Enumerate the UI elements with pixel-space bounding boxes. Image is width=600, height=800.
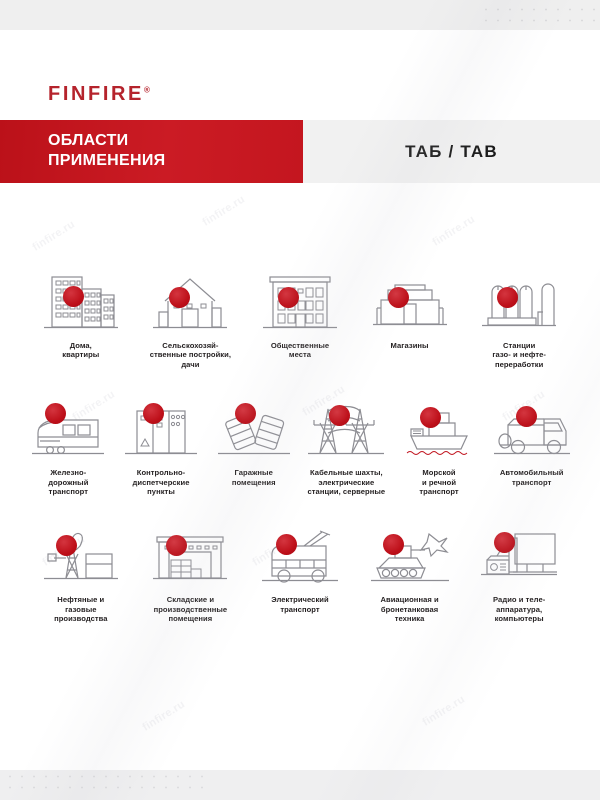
cell-label: Морской и речной транспорт bbox=[419, 468, 458, 496]
logo-text: FINFIRE bbox=[48, 83, 144, 105]
oil-rig-icon bbox=[26, 512, 136, 590]
grid-cell[interactable]: Кабельные шахты, электрические станции, … bbox=[300, 385, 393, 496]
cell-label: Контрольно- диспетчерские пункты bbox=[133, 468, 190, 496]
banner-tab-block: ТАБ / ТАВ bbox=[303, 120, 600, 183]
cell-label: Общественные места bbox=[271, 341, 329, 360]
grid-cell[interactable]: Дома, квартиры bbox=[26, 258, 136, 369]
grid-cell[interactable]: Электрический транспорт bbox=[245, 512, 355, 623]
fire-marker-dot bbox=[166, 535, 187, 556]
grid-cell[interactable]: Морской и речной транспорт bbox=[393, 385, 486, 496]
grid-row-3: Нефтяные и газовые производства bbox=[0, 512, 600, 623]
banner-title-block: ОБЛАСТИ ПРИМЕНЕНИЯ bbox=[0, 120, 303, 183]
grid-cell[interactable]: Общественные места bbox=[245, 258, 355, 369]
cell-label: Авиационная и бронетанковая техника bbox=[380, 595, 438, 623]
farm-house-icon bbox=[136, 258, 246, 336]
cell-label: Железно- дорожный транспорт bbox=[48, 468, 88, 496]
cell-label: Дома, квартиры bbox=[62, 341, 99, 360]
garage-doors-icon bbox=[207, 385, 300, 463]
cell-label: Нефтяные и газовые производства bbox=[54, 595, 107, 623]
warehouse-icon bbox=[136, 512, 246, 590]
grid-cell[interactable]: Автомобильный транспорт bbox=[485, 385, 578, 496]
radio-tv-icon bbox=[464, 512, 574, 590]
grid-cell[interactable]: Радио и теле- аппаратура, компьютеры bbox=[464, 512, 574, 623]
truck-icon bbox=[485, 385, 578, 463]
grid-cell[interactable]: Контрольно- диспетчерские пункты bbox=[115, 385, 208, 496]
registered-mark: ® bbox=[144, 85, 150, 94]
grid-row-2: Железно- дорожный транспорт bbox=[0, 385, 600, 496]
cell-label: Станции газо- и нефте- переработки bbox=[492, 341, 546, 369]
cell-label: Кабельные шахты, электрические станции, … bbox=[308, 468, 386, 496]
application-areas-grid: Дома, квартиры bbox=[0, 258, 600, 630]
train-icon bbox=[22, 385, 115, 463]
tank-plane-icon bbox=[355, 512, 465, 590]
public-building-icon bbox=[245, 258, 355, 336]
shop-store-icon bbox=[355, 258, 465, 336]
grid-cell[interactable]: Нефтяные и газовые производства bbox=[26, 512, 136, 623]
power-tower-icon bbox=[300, 385, 393, 463]
fire-marker-dot bbox=[388, 287, 409, 308]
cell-label: Автомобильный транспорт bbox=[500, 468, 564, 487]
bottom-left-dot-pattern bbox=[4, 771, 204, 797]
fire-marker-dot bbox=[420, 407, 441, 428]
grid-cell[interactable]: Складские и производственные помещения bbox=[136, 512, 246, 623]
cell-label: Складские и производственные помещения bbox=[154, 595, 228, 623]
page-root: finfire.ru finfire.ru finfire.ru finfire… bbox=[0, 0, 600, 800]
header-banner: ОБЛАСТИ ПРИМЕНЕНИЯ ТАБ / ТАВ bbox=[0, 120, 600, 183]
cell-label: Сельскохозяй- ственные постройки, дачи bbox=[150, 341, 231, 369]
apartment-buildings-icon bbox=[26, 258, 136, 336]
watermark: finfire.ru bbox=[200, 193, 247, 228]
fire-marker-dot bbox=[63, 286, 84, 307]
grid-row-1: Дома, квартиры bbox=[0, 258, 600, 369]
banner-title: ОБЛАСТИ ПРИМЕНЕНИЯ bbox=[48, 131, 165, 171]
grid-cell[interactable]: Железно- дорожный транспорт bbox=[22, 385, 115, 496]
finfire-logo: FINFIRE® bbox=[48, 84, 150, 104]
cell-label: Радио и теле- аппаратура, компьютеры bbox=[493, 595, 545, 623]
grid-cell[interactable]: Сельскохозяй- ственные постройки, дачи bbox=[136, 258, 246, 369]
grid-cell[interactable]: Станции газо- и нефте- переработки bbox=[464, 258, 574, 369]
cell-label: Электрический транспорт bbox=[271, 595, 329, 614]
cell-label: Магазины bbox=[391, 341, 429, 350]
control-cabinet-icon bbox=[115, 385, 208, 463]
watermark: finfire.ru bbox=[140, 698, 187, 733]
top-right-dot-pattern bbox=[480, 4, 600, 26]
ship-icon bbox=[393, 385, 486, 463]
grid-cell[interactable]: Магазины bbox=[355, 258, 465, 369]
gas-oil-refinery-icon bbox=[464, 258, 574, 336]
banner-tab-label: ТАБ / ТАВ bbox=[405, 142, 498, 162]
fire-marker-dot bbox=[169, 287, 190, 308]
watermark: finfire.ru bbox=[30, 218, 77, 253]
grid-cell[interactable]: Гаражные помещения bbox=[207, 385, 300, 496]
fire-marker-dot bbox=[143, 403, 164, 424]
grid-cell[interactable]: Авиационная и бронетанковая техника bbox=[355, 512, 465, 623]
watermark: finfire.ru bbox=[430, 213, 477, 248]
cell-label: Гаражные помещения bbox=[232, 468, 276, 487]
watermark: finfire.ru bbox=[420, 693, 467, 728]
trolleybus-icon bbox=[245, 512, 355, 590]
